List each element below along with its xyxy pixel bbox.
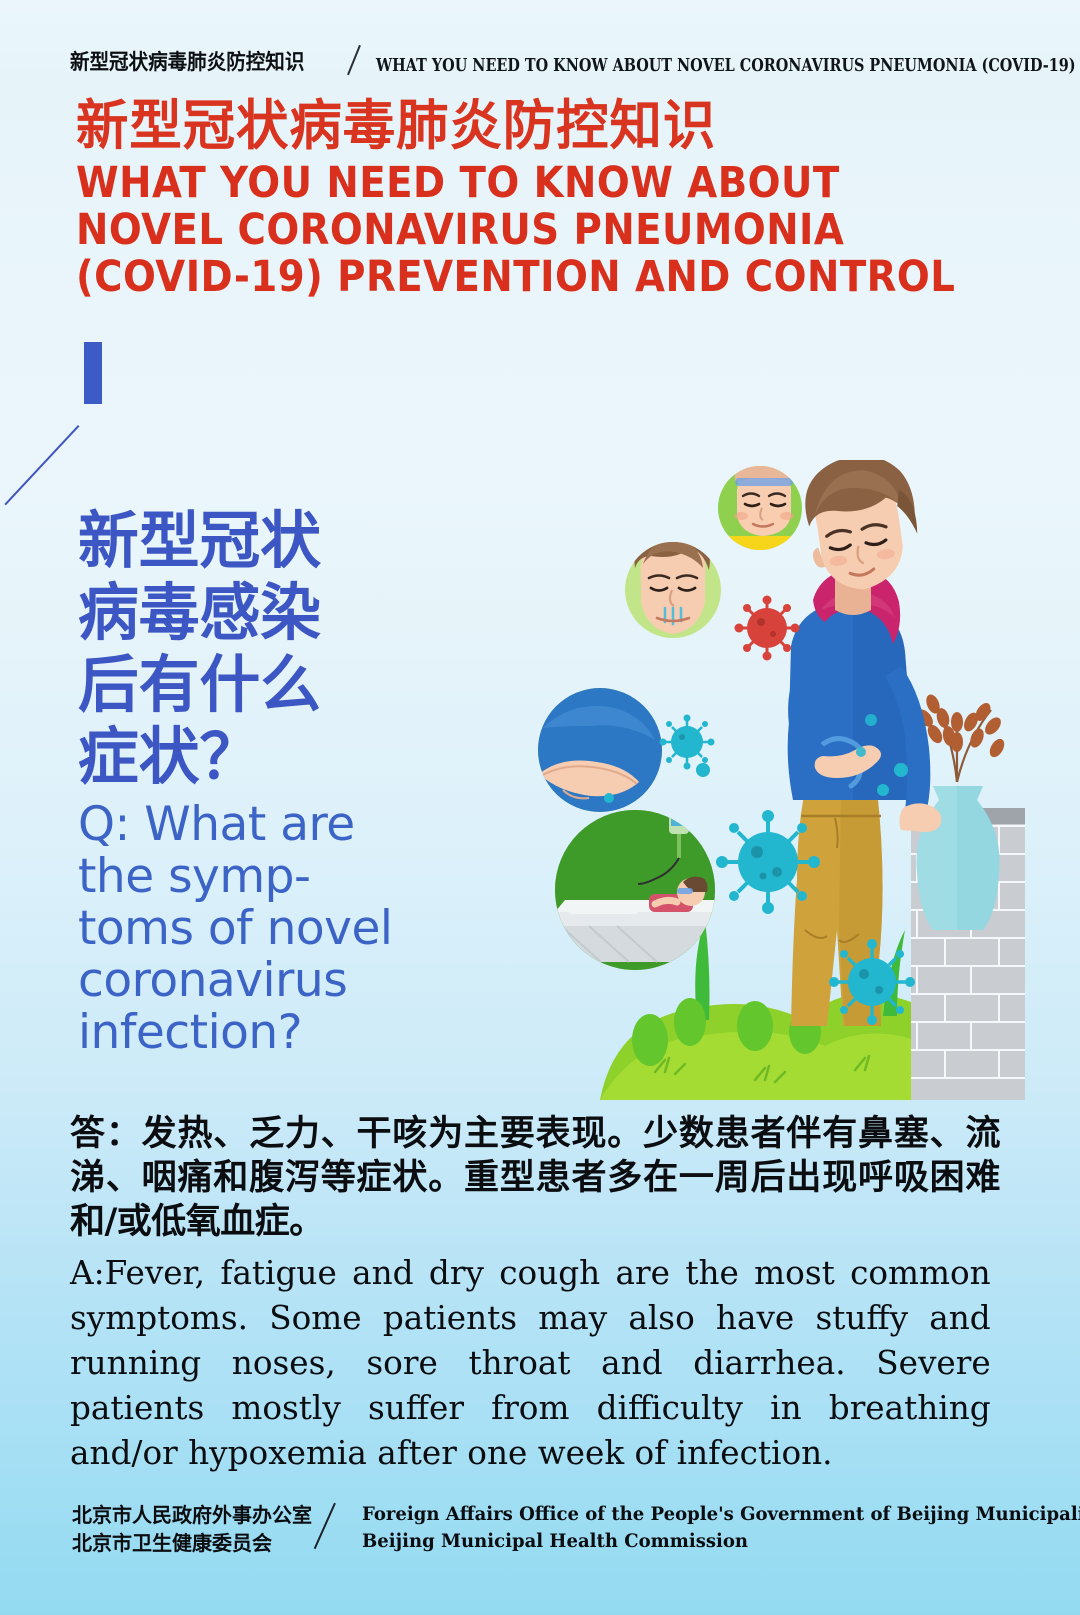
question-en-line3: toms of novel — [78, 903, 498, 955]
poster-canvas: 新型冠状病毒肺炎防控知识 WHAT YOU NEED TO KNOW ABOUT… — [0, 0, 1080, 1615]
footer-org-en-line1: Foreign Affairs Office of the People's G… — [362, 1501, 1080, 1528]
header-title-cn: 新型冠状病毒肺炎防控知识 — [70, 46, 304, 76]
answer-en: A:Fever, fatigue and dry cough are the m… — [70, 1250, 991, 1475]
page-title-en: WHAT YOU NEED TO KNOW ABOUT NOVEL CORONA… — [76, 160, 886, 301]
footer-org-cn-line2: 北京市卫生健康委员会 — [72, 1529, 312, 1557]
section-number-mark — [84, 342, 102, 404]
virus-particle-red — [735, 596, 800, 661]
question-cn-line2: 病毒感染 — [78, 577, 490, 649]
footer-org-cn-line1: 北京市人民政府外事办公室 — [72, 1501, 312, 1529]
slash-divider-icon — [336, 42, 370, 76]
footer: 北京市人民政府外事办公室 北京市卫生健康委员会 Foreign Affairs … — [72, 1501, 1080, 1557]
page-title: 新型冠状病毒肺炎防控知识 WHAT YOU NEED TO KNOW ABOUT… — [76, 96, 976, 301]
question-cn-line4: 症状？ — [78, 721, 490, 793]
hospital-bed-circle-icon — [555, 802, 717, 970]
footer-org-en-line2: Beijing Municipal Health Commission — [362, 1528, 1080, 1555]
page-title-en-line3: (COVID-19) PREVENTION AND CONTROL — [76, 254, 886, 301]
footer-org-en: Foreign Affairs Office of the People's G… — [362, 1501, 1080, 1555]
question-en-line2: the symp- — [78, 851, 498, 903]
answer-block: 答：发热、乏力、干咳为主要表现。少数患者伴有鼻塞、流涕、咽痛和腹泻等症状。重型患… — [70, 1112, 1000, 1475]
header-title-en: WHAT YOU NEED TO KNOW ABOUT NOVEL CORONA… — [376, 55, 1080, 76]
page-title-cn: 新型冠状病毒肺炎防控知识 — [76, 96, 949, 156]
page-title-en-line2: NOVEL CORONAVIRUS PNEUMONIA — [76, 207, 886, 254]
virus-particle-teal-small — [660, 715, 715, 770]
stomach-ache-circle-icon — [531, 688, 673, 812]
question-cn: 新型冠状 病毒感染 后有什么 症状？ — [78, 505, 490, 793]
virus-particle-teal-ground — [829, 939, 915, 1025]
question-en-line1: Q: What are — [78, 799, 498, 851]
diagonal-slash-icon — [78, 425, 158, 503]
question-cn-line1: 新型冠状 — [78, 505, 490, 577]
question-en-line5: infection? — [78, 1007, 498, 1059]
question-block: 新型冠状 病毒感染 后有什么 症状？ Q: What are the symp-… — [78, 505, 498, 1059]
question-cn-line3: 后有什么 — [78, 649, 490, 721]
footer-slash-divider-icon — [312, 1501, 362, 1557]
answer-cn: 答：发热、乏力、干咳为主要表现。少数患者伴有鼻塞、流涕、咽痛和腹泻等症状。重型患… — [70, 1112, 1000, 1244]
question-en: Q: What are the symp- toms of novel coro… — [78, 799, 498, 1059]
symptoms-illustration — [505, 460, 1025, 1100]
header-strip: 新型冠状病毒肺炎防控知识 WHAT YOU NEED TO KNOW ABOUT… — [70, 30, 1020, 76]
virus-particle-teal-large — [716, 810, 820, 914]
fever-face-circle-icon — [718, 460, 802, 556]
footer-org-cn: 北京市人民政府外事办公室 北京市卫生健康委员会 — [72, 1501, 312, 1557]
question-en-line4: coronavirus — [78, 955, 498, 1007]
page-title-en-line1: WHAT YOU NEED TO KNOW ABOUT — [76, 160, 886, 207]
runny-nose-face-circle-icon — [625, 518, 721, 638]
